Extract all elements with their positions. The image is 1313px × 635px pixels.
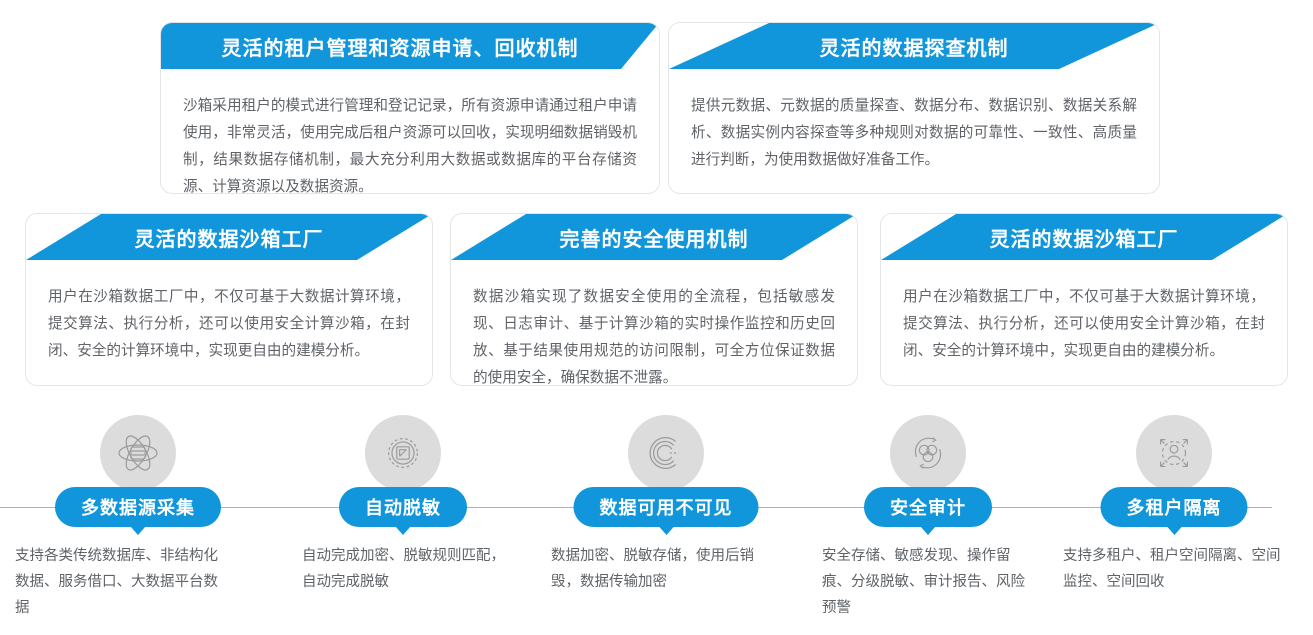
timeline-pill-4[interactable]: 安全审计	[864, 487, 992, 527]
timeline-label: 自动脱敏	[365, 494, 441, 520]
timeline-icon-wrap	[100, 415, 176, 491]
timeline-label: 多数据源采集	[81, 494, 195, 520]
timeline-desc-5: 支持多租户、租户空间隔离、空间监控、空间回收	[1063, 543, 1288, 595]
card-banner: 完善的安全使用机制	[451, 214, 857, 260]
feature-card-security-usage: 完善的安全使用机制 数据沙箱实现了数据安全使用的全流程，包括敏感发现、日志审计、…	[450, 213, 858, 386]
timeline-label: 多租户隔离	[1127, 494, 1222, 520]
timeline-desc-2: 自动完成加密、脱敏规则匹配，自动完成脱敏	[302, 543, 517, 595]
timeline-desc-4: 安全存储、敏感发现、操作留痕、分级脱敏、审计报告、风险预警	[822, 543, 1037, 621]
user-arrows-icon	[1136, 415, 1212, 491]
card-body-text: 数据沙箱实现了数据安全使用的全流程，包括敏感发现、日志审计、基于计算沙箱的实时操…	[451, 260, 857, 386]
card-title: 灵活的租户管理和资源申请、回收机制	[222, 32, 579, 61]
spiral-arcs-icon	[628, 415, 704, 491]
card-banner: 灵活的数据沙箱工厂	[881, 214, 1287, 260]
timeline-pill-2[interactable]: 自动脱敏	[339, 487, 467, 527]
timeline-icon-wrap	[890, 415, 966, 491]
card-banner: 灵活的租户管理和资源申请、回收机制	[161, 23, 659, 69]
timeline-pill-5[interactable]: 多租户隔离	[1101, 487, 1248, 527]
card-body-text: 用户在沙箱数据工厂中，不仅可基于大数据计算环境，提交算法、执行分析，还可以使用安…	[26, 260, 432, 383]
card-title: 灵活的数据探查机制	[820, 32, 1009, 61]
timeline-pill-1[interactable]: 多数据源采集	[55, 487, 221, 527]
timeline-icon-wrap	[1136, 415, 1212, 491]
timeline-icon-wrap	[628, 415, 704, 491]
card-title: 灵活的数据沙箱工厂	[135, 223, 324, 252]
gear-cube-icon	[365, 415, 441, 491]
timeline-icon-wrap	[365, 415, 441, 491]
timeline-label: 数据可用不可见	[600, 494, 733, 520]
card-body-text: 沙箱采用租户的模式进行管理和登记记录，所有资源申请通过租户申请使用，非常灵活，使…	[161, 69, 659, 194]
card-body-text: 用户在沙箱数据工厂中，不仅可基于大数据计算环境，提交算法、执行分析，还可以使用安…	[881, 260, 1287, 383]
timeline-label: 安全审计	[890, 494, 966, 520]
card-title: 完善的安全使用机制	[560, 223, 749, 252]
feature-card-sandbox-factory-right: 灵活的数据沙箱工厂 用户在沙箱数据工厂中，不仅可基于大数据计算环境，提交算法、执…	[880, 213, 1288, 386]
process-timeline: 多数据源采集 支持各类传统数据库、非结构化数据、服务借口、大数据平台数据 自动脱…	[0, 415, 1313, 635]
card-banner: 灵活的数据沙箱工厂	[26, 214, 432, 260]
feature-card-tenant-management: 灵活的租户管理和资源申请、回收机制 沙箱采用租户的模式进行管理和登记记录，所有资…	[160, 22, 660, 194]
card-banner: 灵活的数据探查机制	[669, 23, 1159, 69]
card-title: 灵活的数据沙箱工厂	[990, 223, 1179, 252]
timeline-pill-3[interactable]: 数据可用不可见	[574, 487, 759, 527]
card-body-text: 提供元数据、元数据的质量探查、数据分布、数据识别、数据关系解析、数据实例内容探查…	[669, 69, 1159, 192]
timeline-desc-3: 数据加密、脱敏存储，使用后销毁，数据传输加密	[551, 543, 776, 595]
feature-card-sandbox-factory-left: 灵活的数据沙箱工厂 用户在沙箱数据工厂中，不仅可基于大数据计算环境，提交算法、执…	[25, 213, 433, 386]
atom-database-icon	[100, 415, 176, 491]
cycle-molecule-icon	[890, 415, 966, 491]
feature-card-data-exploration: 灵活的数据探查机制 提供元数据、元数据的质量探查、数据分布、数据识别、数据关系解…	[668, 22, 1160, 194]
timeline-desc-1: 支持各类传统数据库、非结构化数据、服务借口、大数据平台数据	[15, 543, 230, 621]
